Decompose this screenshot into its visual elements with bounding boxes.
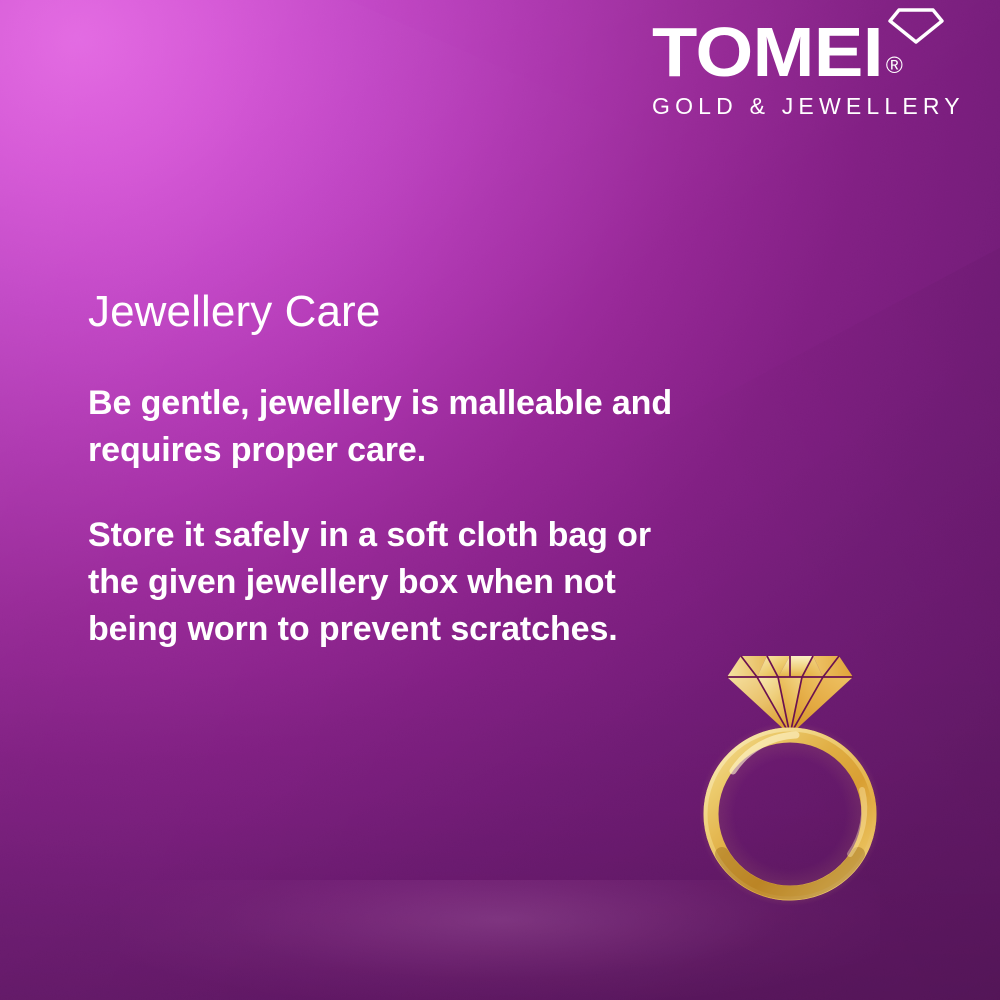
- logo-wordmark-row: TOMEI ®: [648, 8, 978, 86]
- logo-tagline: GOLD & JEWELLERY: [652, 93, 978, 120]
- care-paragraph-1: Be gentle, jewellery is malleable and re…: [88, 380, 688, 474]
- care-card-canvas: TOMEI ® GOLD & JEWELLERY Jewellery Care …: [0, 0, 1000, 1000]
- copy-block: Jewellery Care Be gentle, jewellery is m…: [88, 286, 688, 652]
- logo-wordmark: TOMEI: [652, 19, 883, 86]
- diamond-outline-icon: [887, 7, 945, 45]
- brand-logo: TOMEI ® GOLD & JEWELLERY: [648, 8, 978, 120]
- diamond-gem-icon: [727, 656, 853, 735]
- gold-diamond-ring-illustration: [700, 638, 880, 908]
- page-title: Jewellery Care: [88, 286, 688, 338]
- care-paragraph-2: Store it safely in a soft cloth bag or t…: [88, 512, 688, 653]
- registered-trademark-icon: ®: [886, 54, 903, 77]
